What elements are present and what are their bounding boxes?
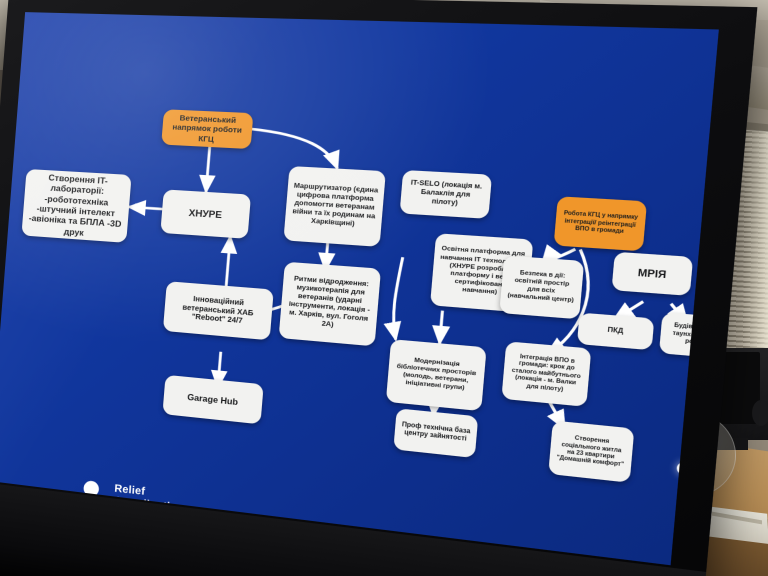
node-social-housing[interactable]: Створення соціального житла на 23 кварти…	[548, 420, 634, 482]
interactive-whiteboard-display[interactable]: Ветеранський напрямок роботи КГЦ Створен…	[0, 0, 757, 576]
node-label: Ритми відродження: музикотерапія для вет…	[285, 275, 374, 333]
node-townhouses[interactable]: Будівництво 12 таунхаусів (по 4 родини)	[659, 312, 719, 359]
node-label: Інноваційний ветеранський ХАБ "Reboot" 2…	[169, 293, 267, 329]
monitor-knob	[752, 400, 768, 426]
node-label: Будівництво 12 таунхаусів (по 4 родини)	[666, 322, 719, 349]
node-label: Маршрутизатор (єдина цифрова платформа д…	[290, 182, 379, 230]
node-marshrutyzator[interactable]: Маршрутизатор (єдина цифрова платформа д…	[283, 166, 385, 247]
node-label: Garage Hub	[169, 390, 257, 410]
node-it-laboratory[interactable]: Створення IT-лабораторії: -робототехніка…	[21, 169, 131, 243]
node-label: Інтеграція ВПО в громади: крок до сталог…	[508, 352, 584, 395]
node-mriya[interactable]: МРІЯ	[612, 252, 694, 296]
node-label: Модернізація бібліотечних просторів (мол…	[393, 355, 479, 394]
display-screen[interactable]: Ветеранський напрямок роботи КГЦ Створен…	[0, 12, 719, 565]
node-label: ХНУРЕ	[167, 206, 244, 223]
camera-lens-icon	[676, 462, 691, 476]
node-it-selo[interactable]: IT-SELO (локація м. Балаклія для пілоту)	[400, 170, 492, 219]
node-label: Створення IT-лабораторії: -робототехніка…	[26, 171, 126, 241]
node-label: ПКД	[584, 325, 647, 339]
node-idp-integration-direction[interactable]: Робота КГЦ у напрямку інтеграції/ реінте…	[554, 196, 647, 251]
flowchart-board: Ветеранський напрямок роботи КГЦ Створен…	[0, 12, 719, 565]
node-label: Створення соціального житла на 23 кварти…	[555, 434, 627, 470]
node-employment-center-base[interactable]: Проф технічна база центру зайнятості	[393, 408, 478, 458]
window-light-glare	[742, 129, 768, 382]
node-idp-integration-communities[interactable]: Інтеграція ВПО в громади: крок до сталог…	[501, 341, 591, 407]
node-label: Безпека в дії: освітній простір для всіх…	[506, 270, 576, 305]
node-label: Проф технічна база центру зайнятості	[400, 421, 471, 444]
node-label: Робота КГЦ у напрямку інтеграції/ реінте…	[561, 211, 640, 237]
screenshot-scene: Ветеранський напрямок роботи КГЦ Створен…	[0, 0, 768, 576]
node-khnure[interactable]: ХНУРЕ	[160, 189, 251, 238]
node-label: МРІЯ	[619, 265, 686, 282]
node-library-modernization[interactable]: Модернізація бібліотечних просторів (мол…	[386, 339, 487, 411]
node-veteran-direction[interactable]: Ветеранський напрямок роботи КГЦ	[161, 109, 253, 149]
node-label: Ветеранський напрямок роботи КГЦ	[167, 113, 248, 146]
node-reboot-hub[interactable]: Інноваційний ветеранський ХАБ "Reboot" 2…	[163, 281, 274, 340]
node-label: IT-SELO (локація м. Балаклія для пілоту)	[406, 179, 485, 209]
node-rytmy-vidrodzhennya[interactable]: Ритми відродження: музикотерапія для вет…	[279, 262, 381, 347]
node-safety-in-action[interactable]: Безпека в дії: освітній простір для всіх…	[499, 255, 584, 319]
node-pkd[interactable]: ПКД	[577, 313, 654, 351]
